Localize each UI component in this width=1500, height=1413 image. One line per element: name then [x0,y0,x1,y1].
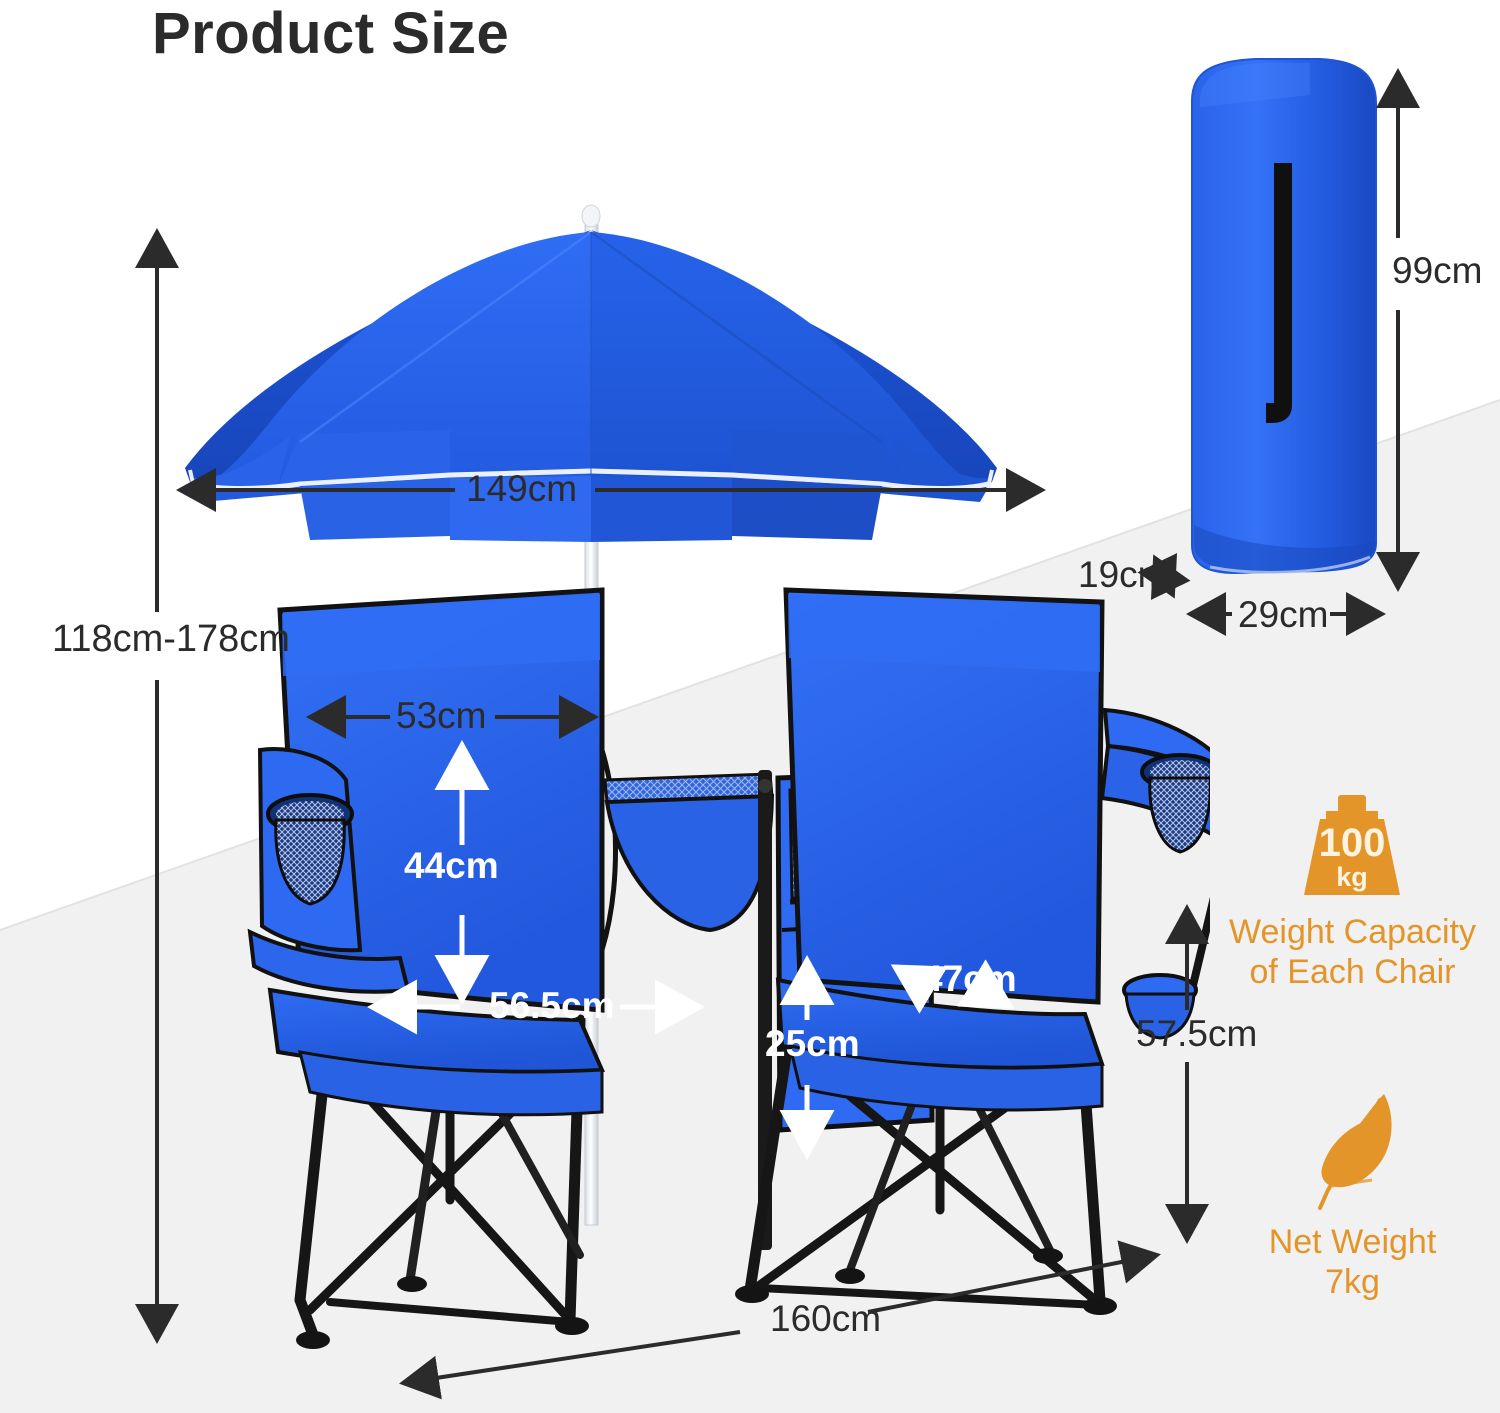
label-bag-depth: 19cm [1078,554,1168,596]
label-overall-width: 160cm [770,1298,881,1340]
label-seat-depth: 56.5cm [489,985,615,1027]
label-cooler-height: 25cm [765,1023,860,1065]
label-backrest-width: 53cm [396,695,486,737]
dimension-arrows-overlay [0,0,1500,1413]
label-bag-width: 29cm [1238,594,1328,636]
weight-icon [1296,795,1408,903]
label-overall-height: 118cm-178cm [52,618,290,661]
weight-capacity-label-line2: of Each Chair [1205,952,1500,993]
net-weight-label-line2: 7kg [1205,1262,1500,1303]
label-backrest-height: 44cm [404,845,499,887]
net-weight-label-line1: Net Weight [1205,1222,1500,1263]
feather-icon [1310,1086,1406,1214]
label-umbrella-width: 149cm [466,468,577,510]
label-seat-width: 47cm [922,958,1017,1000]
weight-capacity-label-line1: Weight Capacity [1205,912,1500,953]
label-bag-height: 99cm [1392,250,1482,292]
infographic-canvas: Product Size [0,0,1500,1413]
label-seat-height: 57.5cm [1136,1013,1257,1055]
